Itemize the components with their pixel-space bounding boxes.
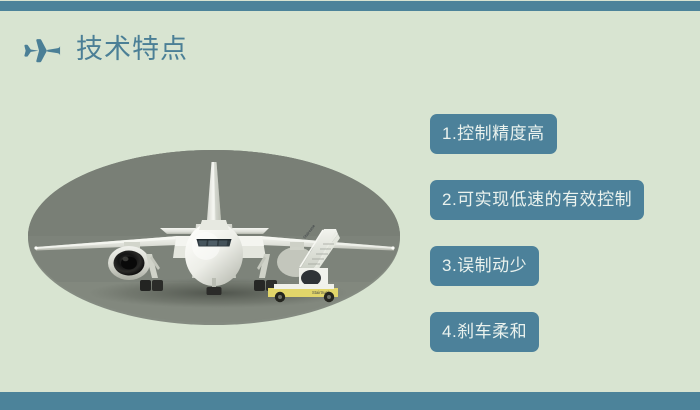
feature-list: 1.控制精度高 2.可实现低速的有效控制 3.误制动少 4.刹车柔和 [430, 114, 644, 352]
bottom-accent-bar [0, 392, 700, 410]
slide-title-row: 技术特点 [18, 32, 188, 66]
feature-box-1[interactable]: 1.控制精度高 [430, 114, 557, 154]
airplane-photo-container: Staircase Stairtruck [28, 150, 400, 325]
airplane-icon [18, 32, 62, 66]
airplane-front-view-photo: Staircase Stairtruck [28, 150, 400, 325]
top-accent-bar [0, 1, 700, 11]
feature-box-2[interactable]: 2.可实现低速的有效控制 [430, 180, 644, 220]
page-title: 技术特点 [76, 36, 188, 63]
feature-box-4[interactable]: 4.刹车柔和 [430, 312, 539, 352]
slide-canvas: 技术特点 [0, 0, 700, 410]
feature-box-3[interactable]: 3.误制动少 [430, 246, 539, 286]
